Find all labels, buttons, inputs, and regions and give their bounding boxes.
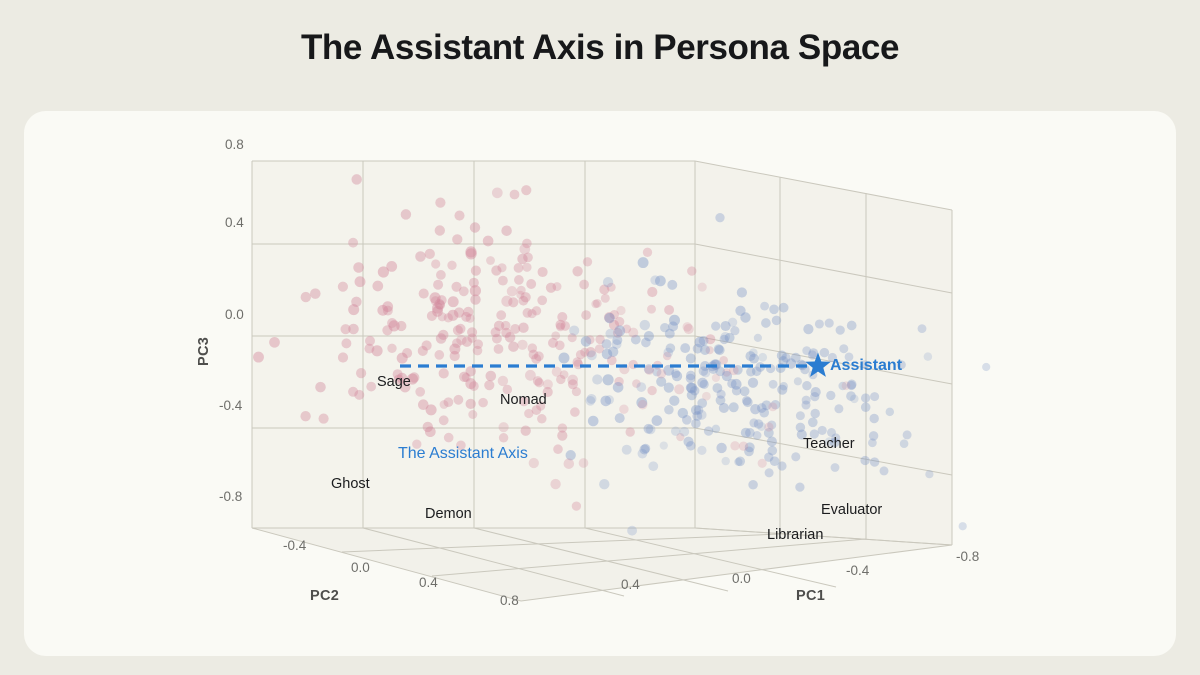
- pc3-tick-1: 0.4: [225, 215, 244, 230]
- pc2-tick-1: 0.0: [351, 560, 370, 575]
- pc1-tick-2: -0.4: [846, 563, 869, 578]
- figure-page: The Assistant Axis in Persona Space: [0, 0, 1200, 675]
- pc2-tick-3: 0.8: [500, 593, 519, 608]
- persona-label-librarian: Librarian: [767, 527, 823, 543]
- pc3-tick-0: 0.8: [225, 137, 244, 152]
- pc3-tick-4: -0.8: [219, 489, 242, 504]
- persona-label-sage: Sage: [377, 374, 411, 390]
- pc2-tick-0: -0.4: [283, 538, 306, 553]
- pc3-tick-2: 0.0: [225, 307, 244, 322]
- pc3-tick-3: -0.4: [219, 398, 242, 413]
- plot-canvas: [24, 111, 1176, 656]
- pc2-tick-2: 0.4: [419, 575, 438, 590]
- pc3-axis-title: PC3: [196, 337, 212, 366]
- figure-card: 0.8 0.4 0.0 -0.4 -0.8 PC3 -0.4 0.0 0.4 0…: [24, 111, 1176, 656]
- assistant-marker-label: Assistant: [830, 357, 902, 375]
- persona-label-evaluator: Evaluator: [821, 502, 882, 518]
- persona-label-teacher: Teacher: [803, 436, 855, 452]
- pc1-tick-3: -0.8: [956, 549, 979, 564]
- assistant-axis-annotation: The Assistant Axis: [398, 445, 528, 463]
- scatter-3d-plot[interactable]: 0.8 0.4 0.0 -0.4 -0.8 PC3 -0.4 0.0 0.4 0…: [24, 111, 1176, 656]
- pc1-tick-1: 0.0: [732, 571, 751, 586]
- pc2-axis-title: PC2: [310, 588, 339, 604]
- persona-label-nomad: Nomad: [500, 392, 547, 408]
- pc1-axis-title: PC1: [796, 588, 825, 604]
- page-title: The Assistant Axis in Persona Space: [0, 28, 1200, 68]
- persona-label-demon: Demon: [425, 506, 472, 522]
- pc1-tick-0: 0.4: [621, 577, 640, 592]
- persona-label-ghost: Ghost: [331, 476, 370, 492]
